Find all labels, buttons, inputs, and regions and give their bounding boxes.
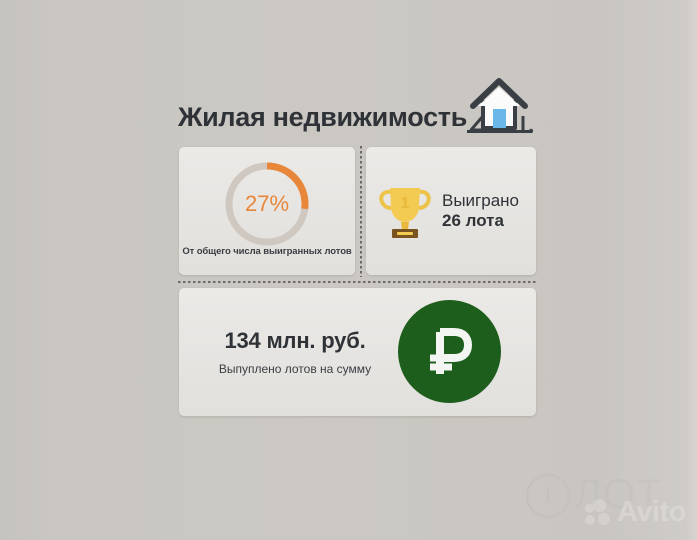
lots-won-count: 26 лота <box>442 211 519 231</box>
purchased-sum-amount: 134 млн. руб. <box>197 328 393 354</box>
lot-watermark-sub: group <box>576 512 619 524</box>
lots-won-text: Выиграно 26 лота <box>442 191 519 231</box>
donut-percent-label: 27% <box>221 158 313 250</box>
lot-group-watermark: 1 ЛОТ group <box>524 472 692 528</box>
house-icon <box>463 76 535 141</box>
trophy-icon: 1 <box>376 178 434 245</box>
horizontal-dotted-separator <box>178 281 537 283</box>
infographic-canvas: Жилая недвижимость <box>0 0 697 540</box>
vertical-dotted-separator <box>360 146 362 277</box>
page-header: Жилая недвижимость <box>178 75 560 137</box>
lots-won-row: 1 Выиграно 26 лота <box>376 173 528 249</box>
lots-won-card: 1 Выиграно 26 лота <box>366 147 536 275</box>
lot-watermark-mark: 1 <box>526 474 570 518</box>
lot-watermark-word: ЛОТ <box>574 470 663 518</box>
donut-caption: От общего числа выигранных лотов <box>179 246 355 257</box>
avito-watermark: Avito <box>585 496 686 529</box>
percent-won-card: 27% От общего числа выигранных лотов <box>179 147 355 275</box>
avito-dots-icon <box>585 499 612 526</box>
page-title: Жилая недвижимость <box>178 104 467 137</box>
purchased-sum-text: 134 млн. руб. Выпуплено лотов на сумму <box>197 328 393 376</box>
ruble-icon <box>398 300 501 403</box>
avito-brand-label: Avito <box>617 496 686 529</box>
purchased-sum-caption: Выпуплено лотов на сумму <box>197 362 393 376</box>
donut-chart: 27% <box>179 155 355 253</box>
svg-text:1: 1 <box>401 195 410 212</box>
lots-won-label: Выиграно <box>442 191 519 211</box>
purchased-sum-card: 134 млн. руб. Выпуплено лотов на сумму <box>179 288 536 416</box>
